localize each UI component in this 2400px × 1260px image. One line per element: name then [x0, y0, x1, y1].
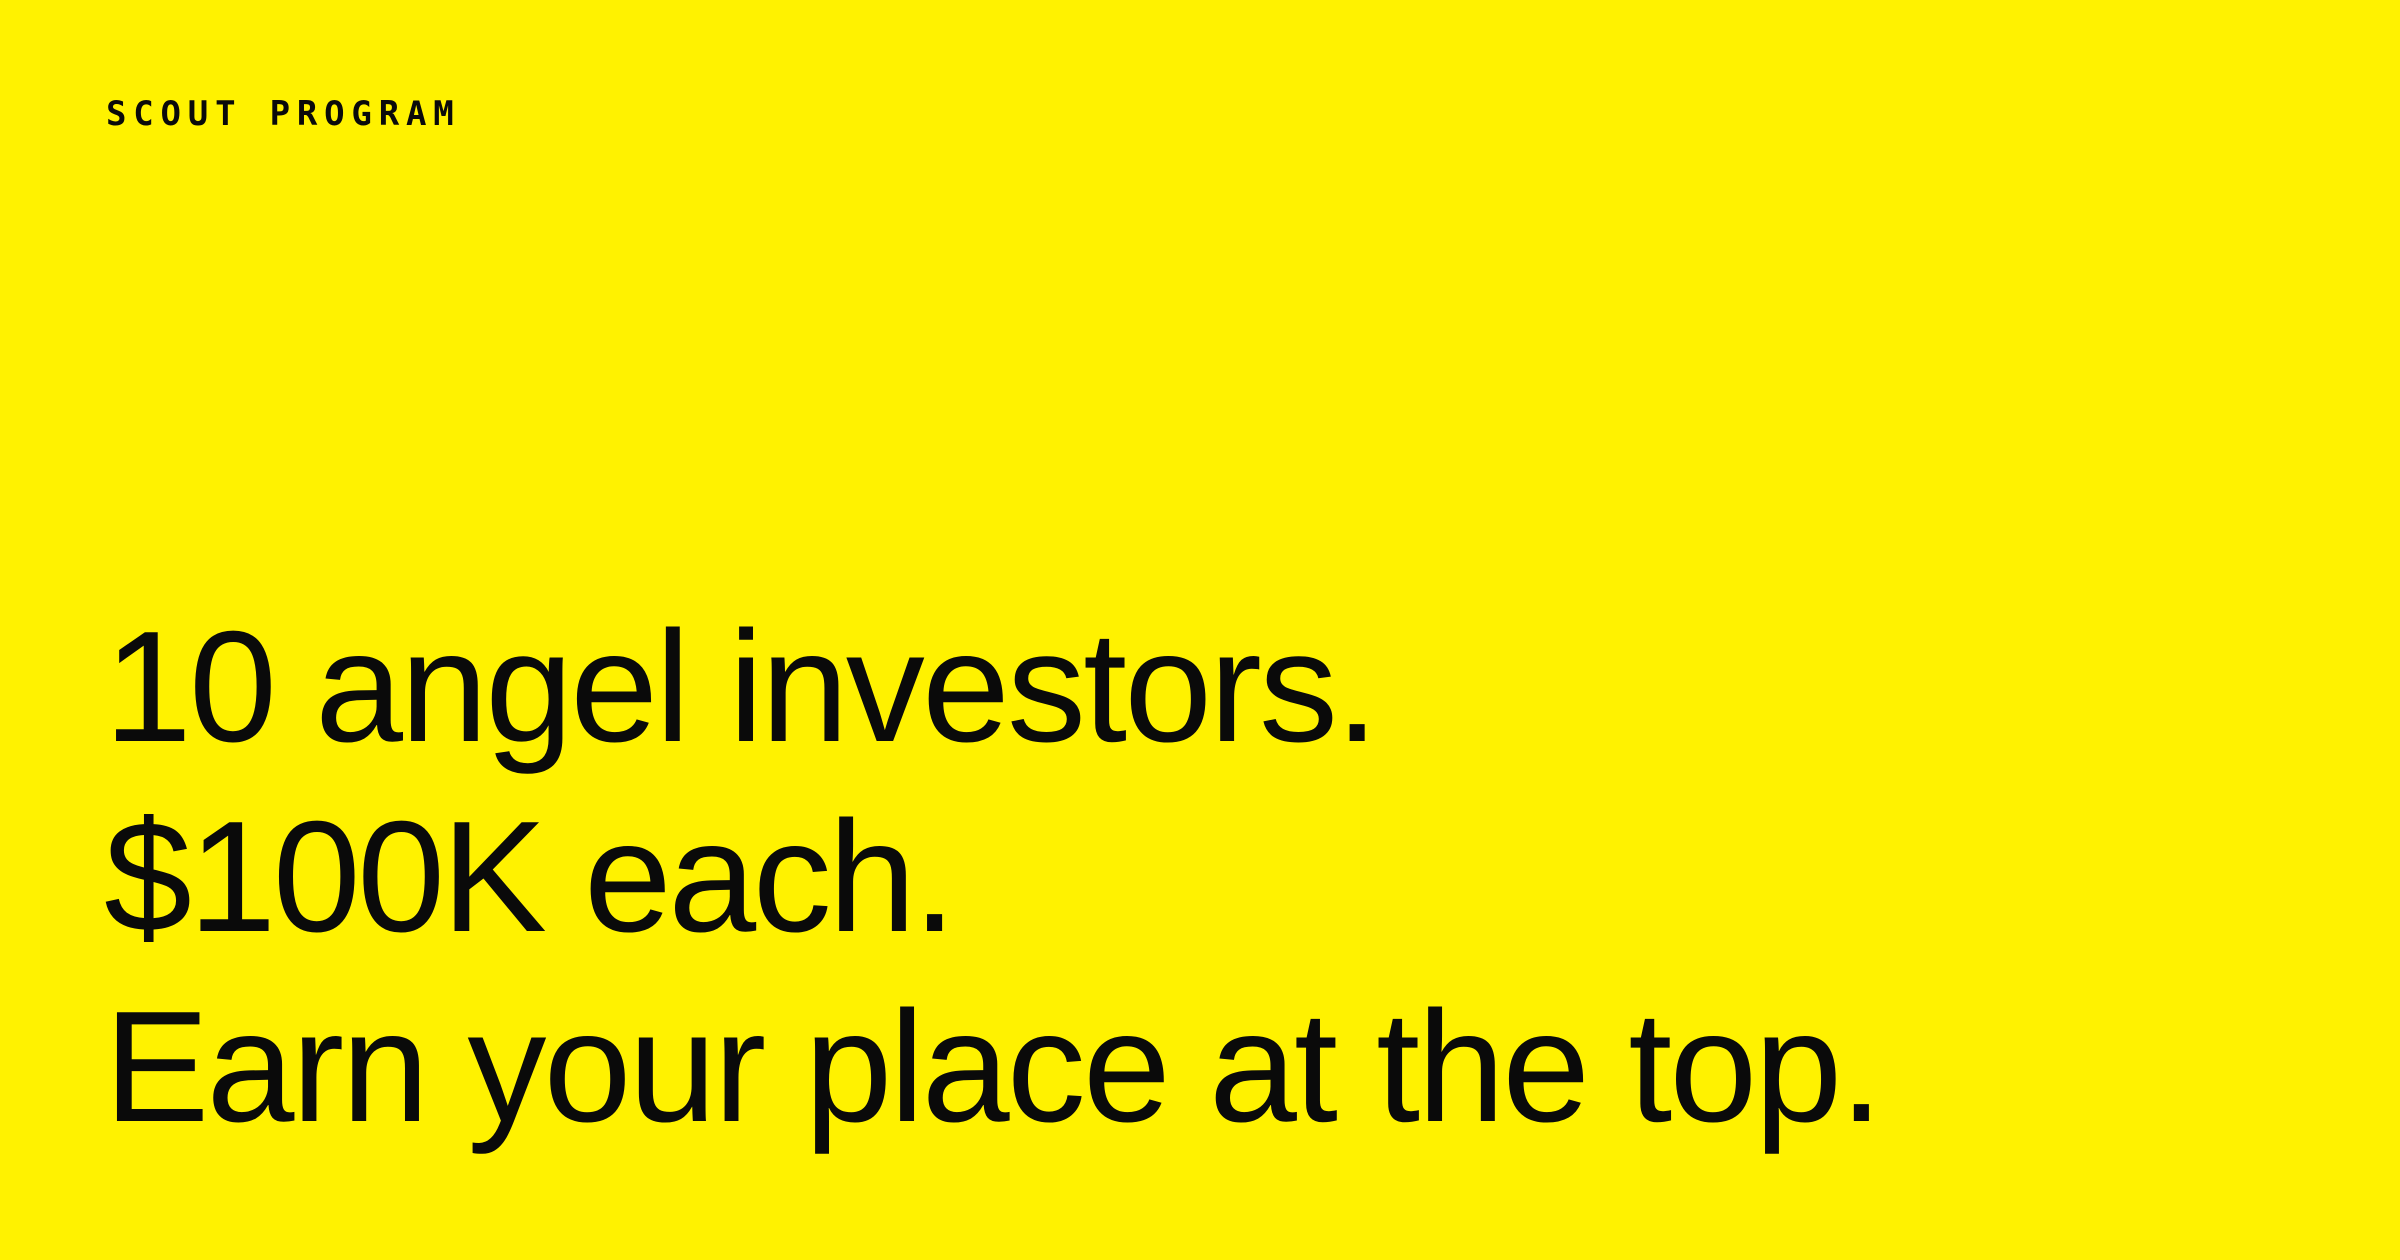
headline-line-2: $100K each.	[104, 782, 2304, 972]
headline: 10 angel investors. $100K each. Earn you…	[104, 592, 2304, 1162]
scout-program-slide: SCOUT PROGRAM 10 angel investors. $100K …	[0, 0, 2400, 1260]
headline-line-1: 10 angel investors.	[104, 592, 2304, 782]
eyebrow-label: SCOUT PROGRAM	[106, 94, 461, 135]
headline-line-3: Earn your place at the top.	[104, 972, 2304, 1162]
